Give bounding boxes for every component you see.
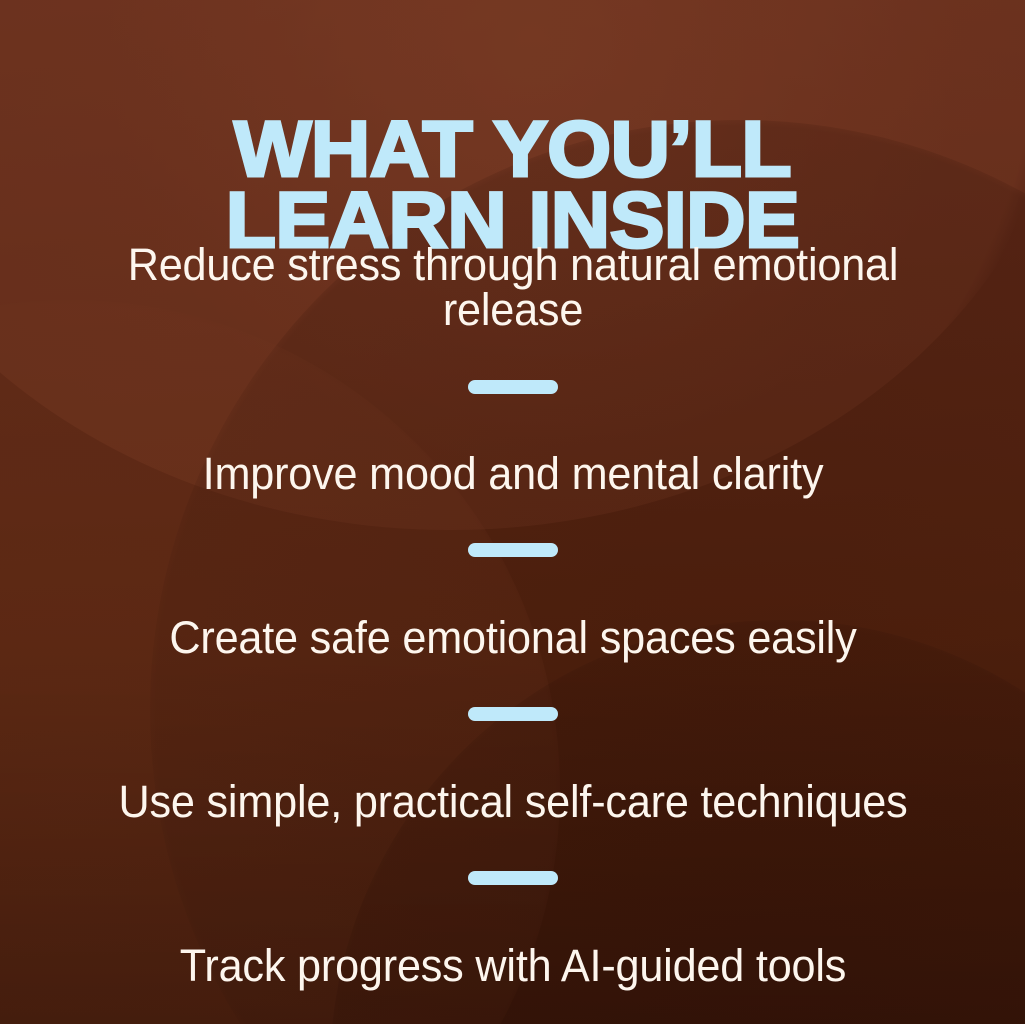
benefit-text: Track progress with AI-guided tools	[90, 943, 935, 988]
divider-pill-icon	[468, 707, 558, 721]
benefit-text: Improve mood and mental clarity	[90, 451, 935, 496]
page-title: WHAT YOU’LL LEARN INSIDE	[0, 117, 1025, 251]
page-title-line-1: WHAT YOU’LL	[0, 117, 1025, 180]
benefit-text: Create safe emotional spaces easily	[90, 615, 935, 660]
list-item: Create safe emotional spaces easily	[0, 615, 1025, 721]
benefit-divider-wrap	[0, 707, 1025, 721]
benefit-divider-wrap	[0, 871, 1025, 885]
promo-poster: WHAT YOU’LL LEARN INSIDE Reduce stress t…	[0, 0, 1025, 1024]
benefit-text: Use simple, practical self-care techniqu…	[90, 779, 935, 824]
list-item: Improve mood and mental clarity	[0, 451, 1025, 557]
poster-content: WHAT YOU’LL LEARN INSIDE Reduce stress t…	[0, 0, 1025, 1024]
benefit-divider-wrap	[0, 543, 1025, 557]
benefit-text: Reduce stress through natural emotional …	[90, 242, 935, 332]
list-item: Reduce stress through natural emotional …	[0, 242, 1025, 394]
benefit-divider-wrap	[0, 380, 1025, 394]
divider-pill-icon	[468, 871, 558, 885]
divider-pill-icon	[468, 543, 558, 557]
list-item: Use simple, practical self-care techniqu…	[0, 779, 1025, 885]
list-item: Track progress with AI-guided tools	[0, 943, 1025, 988]
divider-pill-icon	[468, 380, 558, 394]
benefit-list: Reduce stress through natural emotional …	[0, 242, 1025, 988]
